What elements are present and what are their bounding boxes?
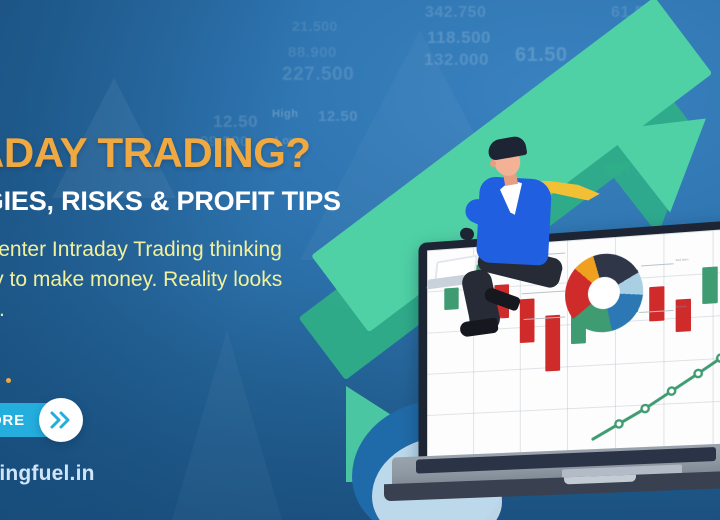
body-text: Most people enter Intraday Trading think… (0, 235, 298, 324)
footer-website-url[interactable]: www.tradingfuel.in (0, 462, 95, 486)
trend-marker (668, 387, 675, 395)
laptop-notch (564, 475, 636, 485)
kicker-text: WHAT IS (0, 96, 438, 123)
cta-icon-circle[interactable] (39, 398, 83, 442)
ticker-number: 342.750 (425, 4, 486, 22)
businessman-illustration (438, 132, 614, 340)
person-hand (459, 226, 475, 241)
text-block: WHAT IS INTRADAY TRADING? STRATEGIES, RI… (0, 96, 438, 325)
subtitle-text: STRATEGIES, RISKS & PROFIT TIPS (0, 186, 438, 217)
double-chevron-right-icon (50, 411, 72, 429)
accent-dot (6, 378, 11, 383)
read-more-cta[interactable]: READ MORE (0, 398, 83, 442)
trend-marker (694, 370, 701, 378)
person-shoe-front (459, 317, 499, 337)
watermark-triangle (172, 330, 282, 520)
person-hair (487, 135, 528, 161)
page-title: INTRADAY TRADING? (0, 129, 438, 176)
intraday-trading-banner: 342.750118.500132.00061.5061.5082.2572.7… (0, 0, 720, 520)
trend-marker (615, 420, 622, 428)
trend-marker (642, 405, 649, 413)
person-ear (490, 160, 496, 167)
